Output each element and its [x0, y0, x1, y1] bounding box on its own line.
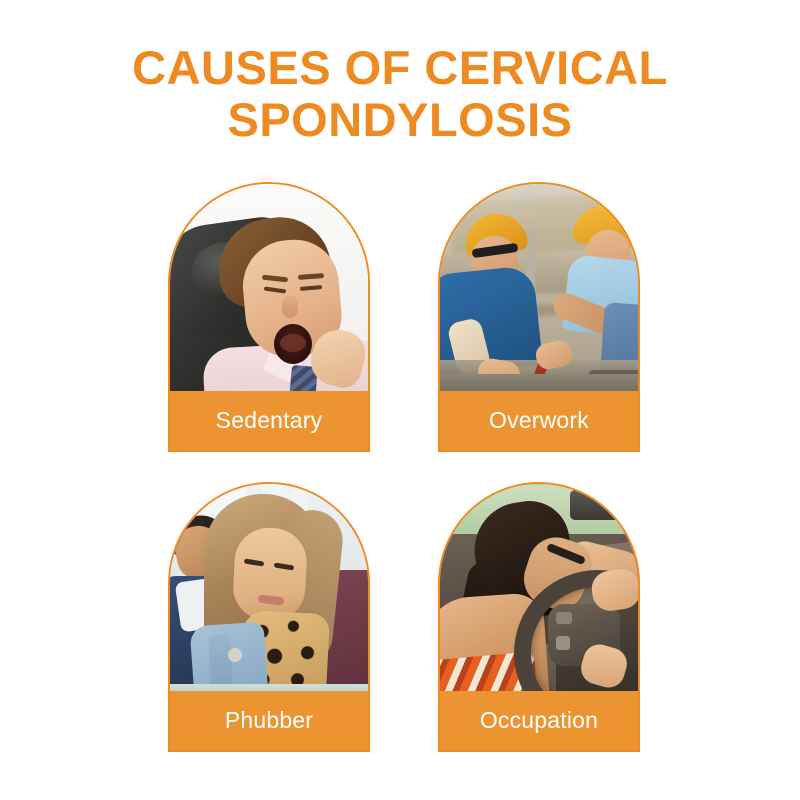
page-title: CAUSES OF CERVICAL SPONDYLOSIS	[0, 42, 800, 146]
cause-image-overwork	[440, 184, 638, 395]
cause-label-occupation: Occupation	[480, 709, 598, 732]
cause-card-sedentary[interactable]: Sedentary	[168, 182, 370, 452]
cause-image-phubber	[170, 484, 368, 695]
cause-card-overwork[interactable]: Overwork	[438, 182, 640, 452]
cause-label-sedentary: Sedentary	[216, 409, 323, 432]
page-title-line-1: CAUSES OF CERVICAL	[0, 42, 800, 94]
cause-label-band-overwork: Overwork	[440, 391, 638, 450]
cause-label-band-sedentary: Sedentary	[170, 391, 368, 450]
cause-label-overwork: Overwork	[489, 409, 589, 432]
page-title-line-2: SPONDYLOSIS	[0, 94, 800, 146]
cause-label-band-occupation: Occupation	[440, 691, 638, 750]
cause-card-occupation[interactable]: Occupation	[438, 482, 640, 752]
causes-card-grid: Sedentary	[168, 182, 640, 752]
cause-card-phubber[interactable]: Phubber	[168, 482, 370, 752]
cause-image-sedentary	[170, 184, 368, 395]
cause-image-occupation	[440, 484, 638, 695]
cause-label-band-phubber: Phubber	[170, 691, 368, 750]
cause-label-phubber: Phubber	[225, 709, 313, 732]
